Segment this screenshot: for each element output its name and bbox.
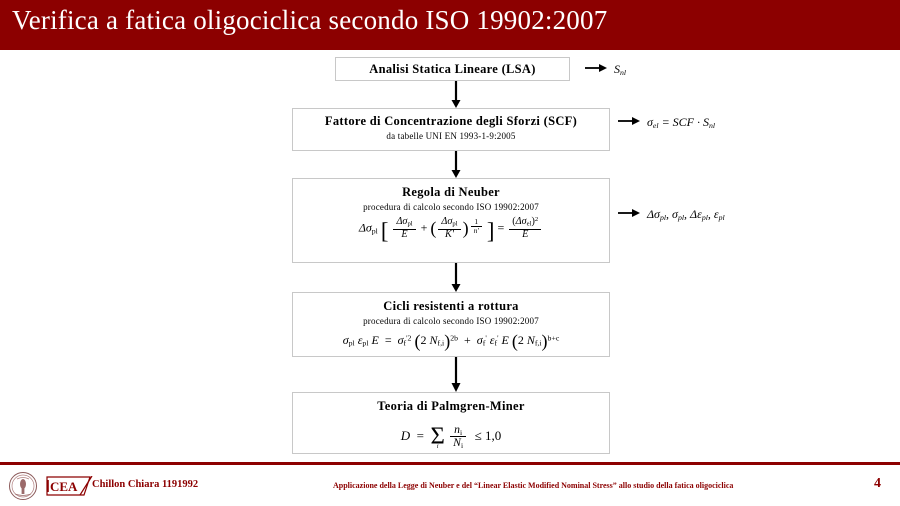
flow-box-scf[interactable]: Fattore di Concentrazione degli Sforzi (… [292, 108, 610, 151]
neuber-term1: Δσpl E [393, 217, 415, 240]
neuber-rhs: (Δσel)2 E [509, 217, 541, 240]
flow-box-scf-subtitle: da tabelle UNI EN 1993-1-9:2005 [293, 131, 609, 141]
flow-box-scf-title: Fattore di Concentrazione degli Sforzi (… [293, 114, 609, 129]
flow-box-cicli-subtitle: procedura di calcolo secondo ISO 19902:2… [293, 316, 609, 326]
side-output-plastic-quantities: Δσpl, σpl, Δεpl, εpl [618, 205, 725, 223]
slide-footer: CEA Chillon Chiara 1191992 Applicazione … [0, 465, 900, 506]
neuber-equation: Δσpl [ Δσpl E + (ΔσplK')1n' ] = (Δσel)2 … [293, 217, 609, 245]
flowchart-area: Analisi Statica Lineare (LSA) Snl Fattor… [0, 50, 900, 462]
connector-scf-to-neuber [450, 151, 462, 178]
footer-page-number: 4 [874, 476, 881, 492]
slide-title-bar: Verifica a fatica oligociclica secondo I… [0, 0, 900, 50]
connector-lsa-to-scf [450, 81, 462, 108]
flow-box-neuber-title: Regola di Neuber [293, 185, 609, 200]
neuber-plus: + [421, 220, 428, 234]
page-title: Verifica a fatica oligociclica secondo I… [12, 5, 607, 36]
right-arrow-icon [585, 60, 607, 78]
side-output-snl-symbol: Snl [614, 62, 626, 77]
neuber-bracket-open: [ [381, 219, 389, 244]
flow-box-miner[interactable]: Teoria di Palmgren-Miner D = Σ i niNi ≤ … [292, 392, 610, 454]
right-arrow-icon [618, 113, 640, 131]
neuber-term2: (ΔσplK')1n' [430, 220, 486, 234]
neuber-bracket-close: ] [487, 219, 495, 244]
flow-box-cicli-title: Cicli resistenti a rottura [293, 299, 609, 314]
side-output-snl: Snl [585, 60, 626, 78]
university-seal-icon [8, 471, 38, 501]
neuber-equals: = [497, 220, 504, 234]
neuber-lhs: Δσ [359, 220, 372, 234]
connector-neuber-to-cicli [450, 263, 462, 292]
connector-cicli-to-miner [450, 357, 462, 392]
icea-logo: CEA [44, 476, 94, 496]
flow-box-cicli[interactable]: Cicli resistenti a rottura procedura di … [292, 292, 610, 357]
cicli-equation: σpl εpl E = σf'2 (2 Nf,i)2b + σf' εf' E … [293, 331, 609, 352]
footer-author: Chillon Chiara 1191992 [92, 479, 198, 490]
side-output-sigma-el: σel = SCF · Snl [618, 113, 715, 131]
flow-box-lsa[interactable]: Analisi Statica Lineare (LSA) [335, 57, 570, 81]
svg-text:CEA: CEA [50, 479, 78, 494]
flow-box-miner-title: Teoria di Palmgren-Miner [293, 399, 609, 414]
flow-box-neuber-subtitle: procedura di calcolo secondo ISO 19902:2… [293, 202, 609, 212]
side-output-sigma-el-symbol: σel = SCF · Snl [647, 115, 715, 130]
flow-box-lsa-title: Analisi Statica Lineare (LSA) [336, 58, 569, 80]
summation-icon: Σ i [431, 423, 445, 451]
side-output-plastic-symbols: Δσpl, σpl, Δεpl, εpl [647, 207, 725, 222]
right-arrow-icon [618, 205, 640, 223]
footer-subject: Applicazione della Legge di Neuber e del… [333, 481, 733, 490]
flow-box-neuber[interactable]: Regola di Neuber procedura di calcolo se… [292, 178, 610, 263]
miner-equation: D = Σ i niNi ≤ 1,0 [293, 423, 609, 451]
